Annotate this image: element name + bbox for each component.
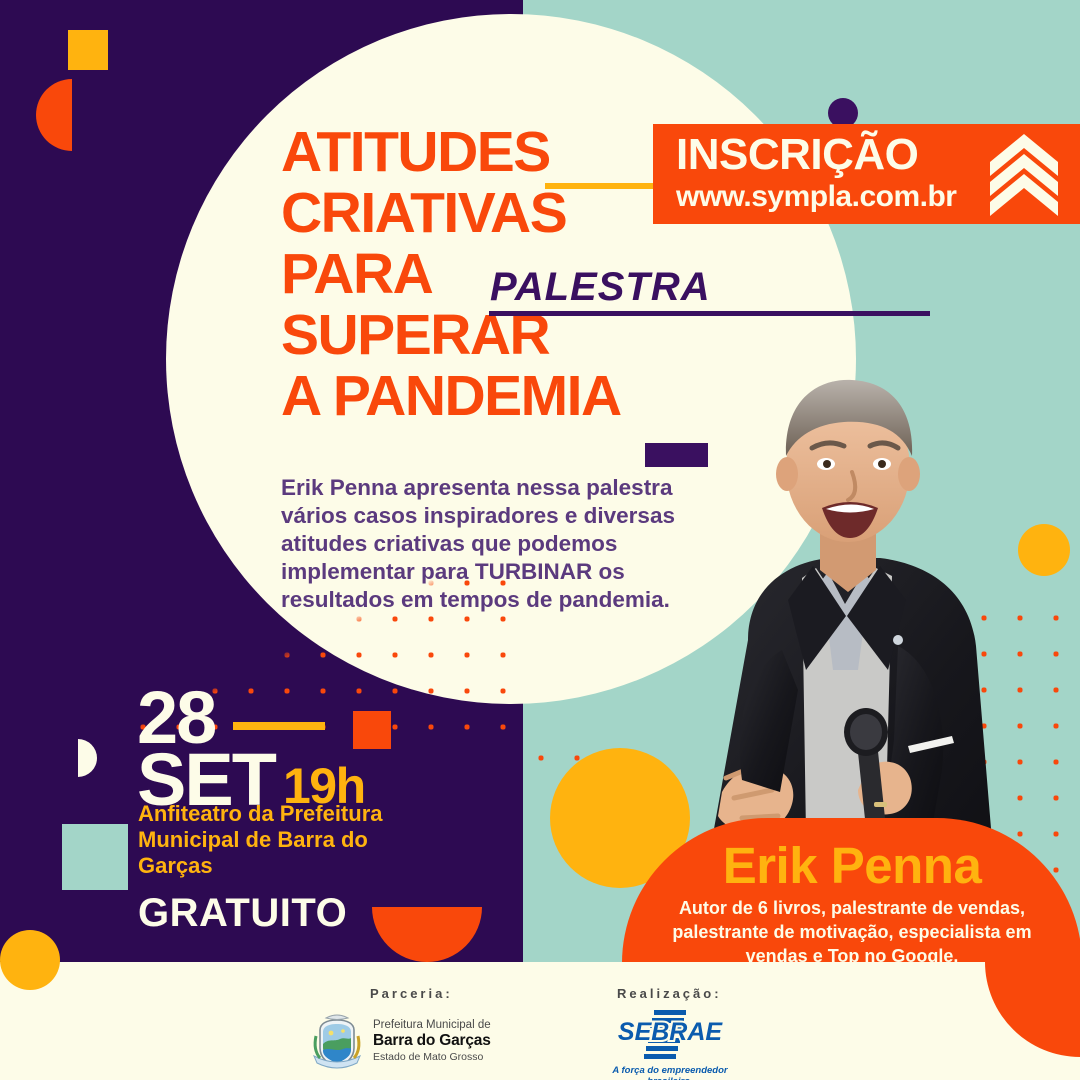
partner-line-3: Estado de Mato Grosso — [373, 1051, 491, 1064]
chevrons-up-icon — [986, 132, 1062, 216]
poster-description: Erik Penna apresenta nessa palestra vári… — [281, 474, 681, 614]
organizer-tagline: A força do empreendedor brasileiro. — [600, 1065, 740, 1080]
orange-square-decoration — [353, 711, 391, 749]
headline-line-2: CRIATIVAS — [281, 183, 711, 244]
partner-line-1: Prefeitura Municipal de — [373, 1018, 491, 1032]
registration-title: INSCRIÇÃO — [676, 130, 918, 180]
partner-logo-prefeitura: Prefeitura Municipal de Barra do Garças … — [310, 1012, 491, 1070]
registration-banner[interactable]: INSCRIÇÃO www.sympla.com.br — [653, 124, 1080, 224]
headline-line-1: ATITUDES — [281, 122, 711, 183]
date-rule-decoration — [233, 722, 325, 730]
partner-line-2: Barra do Garças — [373, 1032, 491, 1051]
event-price-badge: GRATUITO — [138, 891, 347, 936]
footer-band — [0, 962, 1080, 1080]
event-venue: Anfiteatro da Prefeitura Municipal de Ba… — [138, 801, 428, 879]
speaker-bio: Autor de 6 livros, palestrante de vendas… — [652, 896, 1052, 968]
sebrae-logo-icon: SEBRAE — [600, 1008, 740, 1060]
poster-kicker: PALESTRA — [490, 265, 711, 310]
partner-label: Parceria: — [370, 986, 453, 1001]
coat-of-arms-icon — [310, 1012, 364, 1070]
teal-square-decoration — [62, 824, 128, 890]
speaker-name: Erik Penna — [622, 836, 1080, 895]
event-poster: ATITUDES CRIATIVAS PARA SUPERAR A PANDEM… — [0, 0, 1080, 1080]
svg-text:SEBRAE: SEBRAE — [618, 1018, 724, 1046]
yellow-square-decoration — [68, 30, 108, 70]
yellow-dot-footer-decoration — [0, 930, 60, 990]
registration-url[interactable]: www.sympla.com.br — [676, 180, 956, 214]
kicker-underline — [489, 311, 930, 316]
partner-name-block: Prefeitura Municipal de Barra do Garças … — [373, 1018, 491, 1064]
organizer-label: Realização: — [617, 986, 722, 1001]
organizer-logo-sebrae: SEBRAE A força do empreendedor brasileir… — [600, 1008, 740, 1080]
